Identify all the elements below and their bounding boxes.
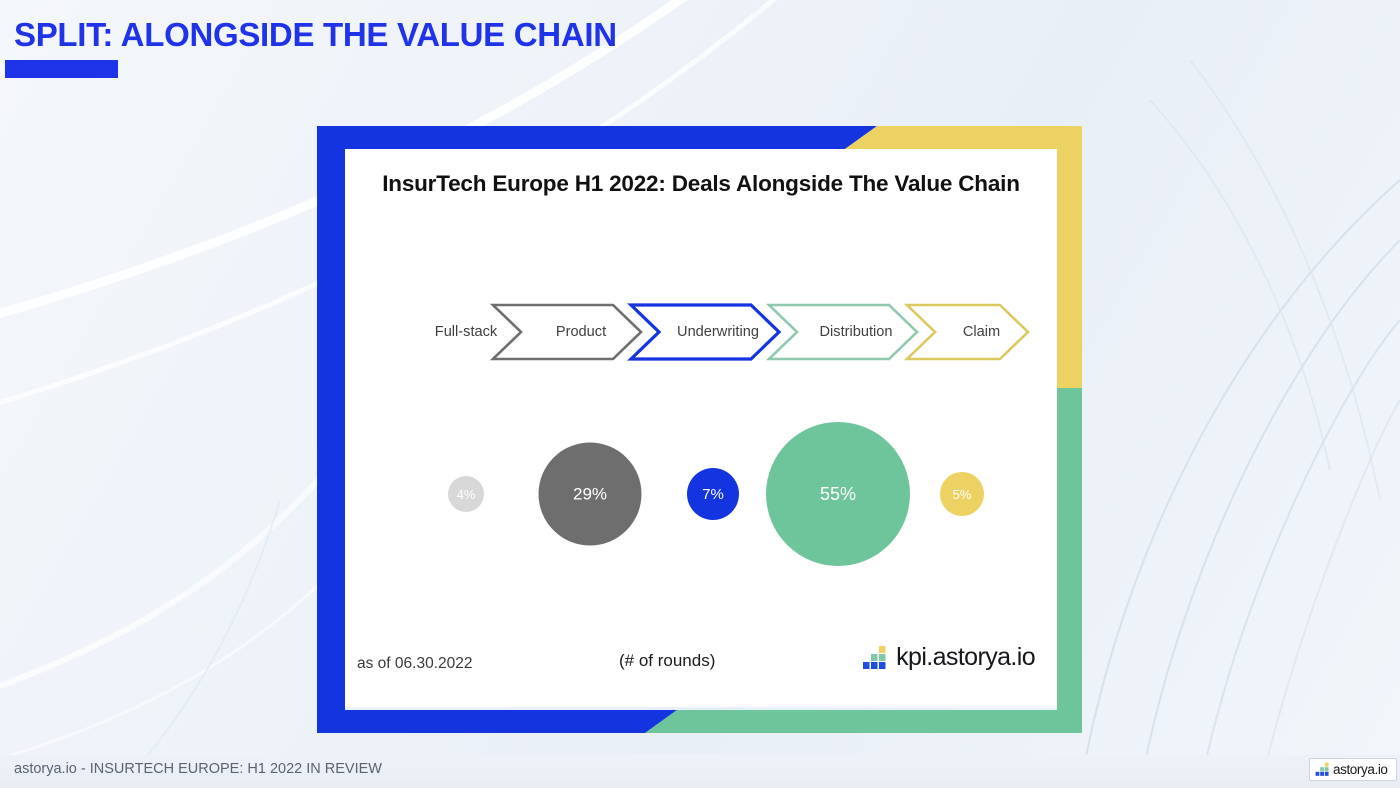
card-inner-surface: InsurTech Europe H1 2022: Deals Alongsid…	[345, 149, 1057, 707]
bubble-chart: 4% 29% 7% 55% 5%	[345, 394, 1057, 594]
astorya-badge-text: astorya.io	[1333, 762, 1388, 777]
kpi-astorya-logo[interactable]: kpi.astorya.io	[862, 643, 1035, 672]
value-chain-stages: Full-stack Product Underwriting Distribu…	[345, 299, 1057, 365]
bubble-value-claim: 5%	[953, 487, 972, 502]
kpi-logo-text: kpi.astorya.io	[896, 643, 1035, 672]
chevron-distribution[interactable]	[769, 305, 917, 359]
bubble-value-full-stack: 4%	[457, 487, 476, 502]
bubble-value-product: 29%	[573, 484, 607, 504]
bubble-full-stack[interactable]: 4%	[448, 476, 484, 512]
chart-title: InsurTech Europe H1 2022: Deals Alongsid…	[345, 171, 1057, 197]
chevron-underwriting[interactable]	[631, 305, 779, 359]
chevron-product[interactable]	[493, 305, 641, 359]
bubble-value-distribution: 55%	[820, 484, 856, 505]
slide-canvas: SPLIT: ALONGSIDE THE VALUE CHAIN InsurTe…	[0, 0, 1400, 788]
page-title: SPLIT: ALONGSIDE THE VALUE CHAIN	[14, 16, 617, 54]
astorya-corner-badge[interactable]: astorya.io	[1309, 758, 1397, 781]
bubble-value-underwriting: 7%	[702, 486, 724, 503]
bar-blocks-icon-small	[1315, 762, 1330, 777]
status-bar-text: astorya.io - INSURTECH EUROPE: H1 2022 I…	[14, 761, 382, 777]
value-chain-chevrons	[345, 299, 1057, 365]
status-bar: astorya.io - INSURTECH EUROPE: H1 2022 I…	[0, 755, 1400, 788]
as-of-date: as of 06.30.2022	[357, 655, 473, 673]
chart-card: InsurTech Europe H1 2022: Deals Alongsid…	[317, 126, 1082, 733]
bar-blocks-icon	[862, 645, 888, 671]
units-note: (# of rounds)	[619, 651, 715, 671]
card-footer: as of 06.30.2022 (# of rounds) kpi.astor…	[345, 637, 1057, 707]
bubble-claim[interactable]: 5%	[940, 472, 984, 516]
title-underline-bar	[5, 60, 118, 78]
bubble-underwriting[interactable]: 7%	[687, 468, 739, 520]
chevron-claim[interactable]	[907, 305, 1028, 359]
bubble-distribution[interactable]: 55%	[766, 422, 910, 566]
bubble-product[interactable]: 29%	[539, 443, 642, 546]
